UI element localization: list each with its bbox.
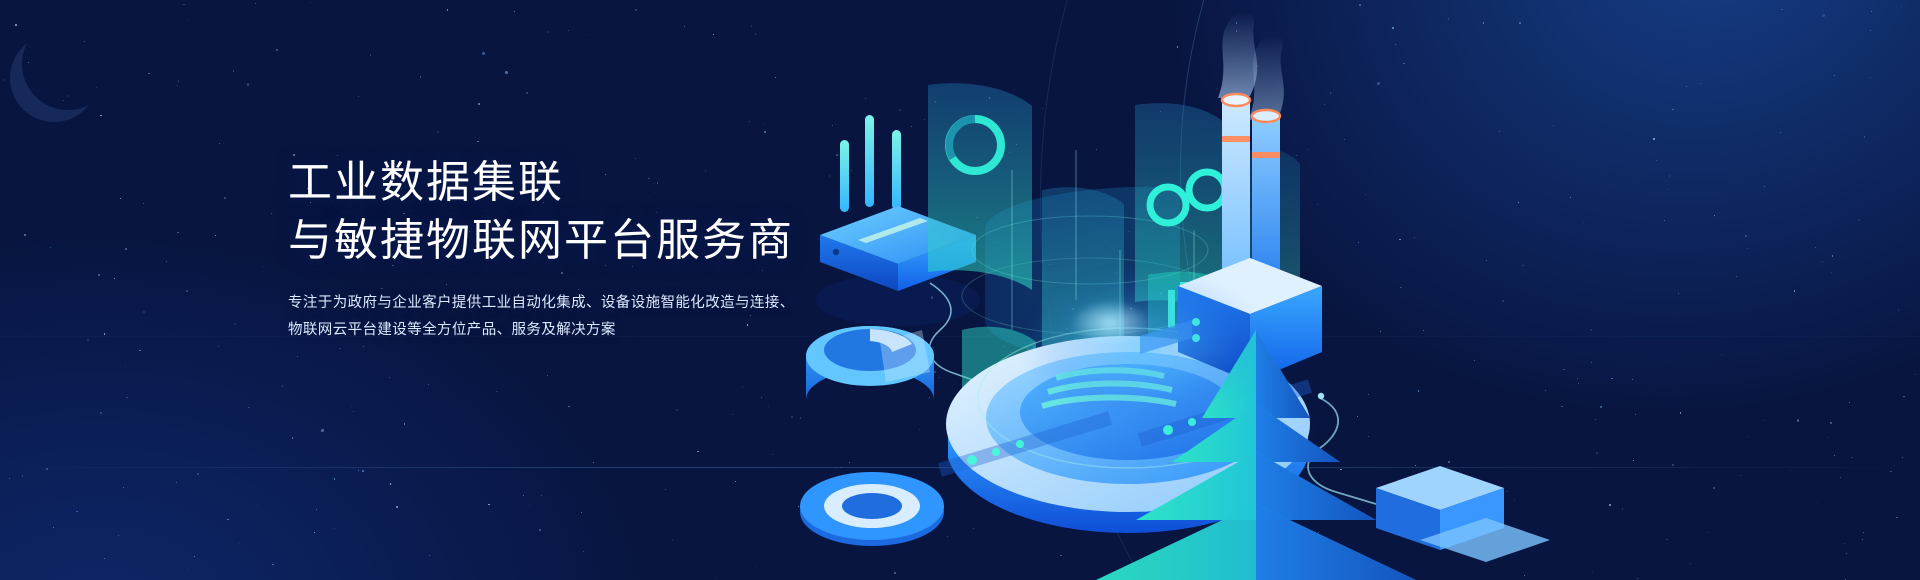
iot-illustration <box>780 0 1920 580</box>
server-boxes <box>1376 466 1550 562</box>
crescent-moon-icon <box>22 18 114 110</box>
ring-pad <box>800 472 944 546</box>
panel-ring <box>928 83 1032 290</box>
router-antenna-2 <box>892 130 901 210</box>
smoke-plume-1 <box>1218 12 1257 98</box>
router-antenna-3 <box>840 140 849 212</box>
router-antenna-1 <box>865 115 874 207</box>
subtitle-line-1: 专注于为政府与企业客户提供工业自动化集成、设备设施智能化改造与连接、 <box>288 290 818 317</box>
hero-banner: 工业数据集联 与敏捷物联网平台服务商 专注于为政府与企业客户提供工业自动化集成、… <box>0 0 1920 580</box>
subtitle-line-2: 物联网云平台建设等全方位产品、服务及解决方案 <box>288 317 818 344</box>
hero-subtitle: 专注于为政府与企业客户提供工业自动化集成、设备设施智能化改造与连接、 物联网云平… <box>288 290 818 344</box>
donut-gauge <box>806 326 934 400</box>
